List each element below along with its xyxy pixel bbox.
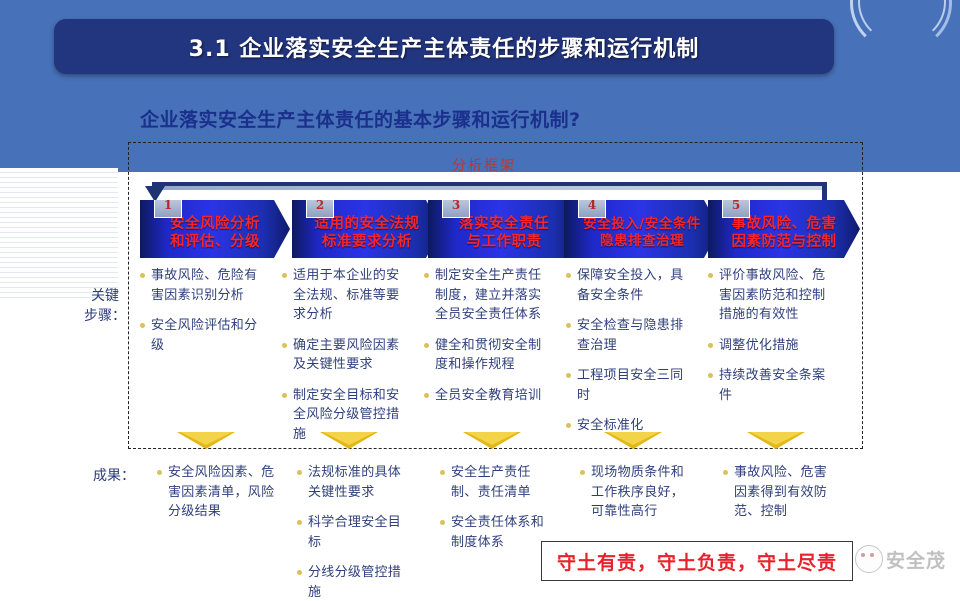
list-item: 评价事故风险、危害因素防范和控制措施的有效性 <box>708 266 836 325</box>
down-arrow-icon-1 <box>177 432 235 449</box>
key-steps-label-line2: 步骤： <box>82 306 128 326</box>
results-label: 成果： <box>93 466 159 486</box>
list-item-label: 持续改善安全条案件 <box>719 366 836 405</box>
list-item: 安全风险评估和分级 <box>140 316 264 355</box>
list-item: 现场物质条件和工作秩序良好，可靠性高行 <box>580 463 692 522</box>
step-box-5[interactable]: 5 事故风险、危害 因素防范与控制 <box>708 200 860 258</box>
bullet-dot-icon <box>297 570 302 575</box>
down-arrow-icon-2 <box>320 432 378 449</box>
list-item: 事故风险、危害因素得到有效防范、控制 <box>723 463 839 522</box>
bullet-dot-icon <box>424 343 429 348</box>
list-item: 适用于本企业的安全法规、标准等要求分析 <box>282 266 408 325</box>
step-box-3[interactable]: 3 落实安全责任 与工作职责 <box>428 200 580 258</box>
bullet-dot-icon <box>157 470 162 475</box>
bullet-dot-icon <box>424 273 429 278</box>
bullet-dot-icon <box>424 393 429 398</box>
background-stripes-overlay <box>0 168 118 300</box>
list-item-label: 健全和贯彻安全制度和操作规程 <box>435 336 550 375</box>
framework-label: 分析框架 <box>452 155 516 175</box>
list-item-label: 事故风险、危险有害因素识别分析 <box>151 266 264 305</box>
bullet-dot-icon <box>566 273 571 278</box>
slide-title-bar: 3.1 企业落实安全生产主体责任的步骤和运行机制 <box>54 19 834 74</box>
step-title-line2: 隐患排查治理 <box>583 233 700 250</box>
key-steps-column-5: 评价事故风险、危害因素防范和控制措施的有效性 调整优化措施 持续改善安全条案件 <box>708 266 836 416</box>
step-title-line2: 和评估、分级 <box>170 233 260 251</box>
step-title: 安全风险分析 和评估、分级 <box>170 207 260 251</box>
list-item-label: 安全责任体系和制度体系 <box>451 513 550 552</box>
down-arrow-icon-3 <box>463 432 521 449</box>
key-steps-column-4: 保障安全投入，具备安全条件 安全检查与隐患排查治理 工程项目安全三同时 安全标准… <box>566 266 688 447</box>
bullet-dot-icon <box>708 343 713 348</box>
list-item: 安全生产责任制、责任清单 <box>440 463 550 502</box>
list-item: 全员安全教育培训 <box>424 386 550 406</box>
list-item: 制定安全生产责任制度，建立并落实全员安全责任体系 <box>424 266 550 325</box>
down-arrow-icon-4 <box>604 432 662 449</box>
key-steps-label-line1: 关键 <box>82 286 128 306</box>
list-item-label: 安全检查与隐患排查治理 <box>577 316 688 355</box>
step-box-2[interactable]: 2 适用的安全法规 标准要求分析 <box>292 200 442 258</box>
list-item-label: 适用于本企业的安全法规、标准等要求分析 <box>293 266 408 325</box>
process-steps-row: 1 安全风险分析 和评估、分级 2 适用的安全法规 标准要求分析 3 落实安全责… <box>140 200 860 258</box>
key-steps-column-2: 适用于本企业的安全法规、标准等要求分析 确定主要风险因素及关键性要求 制定安全目… <box>282 266 408 455</box>
list-item-label: 确定主要风险因素及关键性要求 <box>293 336 408 375</box>
results-column-3: 安全生产责任制、责任清单 安全责任体系和制度体系 <box>440 463 550 563</box>
step-title-line2: 与工作职责 <box>459 233 549 251</box>
bullet-dot-icon <box>297 470 302 475</box>
bullet-dot-icon <box>708 273 713 278</box>
bullet-dot-icon <box>566 323 571 328</box>
step-title: 落实安全责任 与工作职责 <box>459 207 549 251</box>
step-title-line1: 落实安全责任 <box>459 215 549 233</box>
list-item: 健全和贯彻安全制度和操作规程 <box>424 336 550 375</box>
bullet-dot-icon <box>140 273 145 278</box>
list-item-label: 科学合理安全目标 <box>308 513 409 552</box>
bullet-dot-icon <box>723 470 728 475</box>
bullet-dot-icon <box>566 423 571 428</box>
results-column-4: 现场物质条件和工作秩序良好，可靠性高行 <box>580 463 692 533</box>
list-item-label: 全员安全教育培训 <box>435 386 541 406</box>
list-item: 安全风险因素、危害因素清单，风险分级结果 <box>157 463 277 522</box>
list-item-label: 制定安全生产责任制度，建立并落实全员安全责任体系 <box>435 266 550 325</box>
step-box-4[interactable]: 4 安全投入/安全条件 隐患排查治理 <box>564 200 720 258</box>
watermark-logo-icon <box>855 545 883 573</box>
results-column-2: 法规标准的具体关键性要求 科学合理安全目标 分线分级管控措施 <box>297 463 409 601</box>
list-item: 调整优化措施 <box>708 336 836 356</box>
watermark-label: 安全茂 <box>886 546 946 573</box>
step-title-line1: 安全风险分析 <box>170 215 260 233</box>
list-item-label: 分线分级管控措施 <box>308 563 409 601</box>
page-title: 3.1 企业落实安全生产主体责任的步骤和运行机制 <box>189 31 700 63</box>
list-item-label: 安全生产责任制、责任清单 <box>451 463 550 502</box>
list-item: 持续改善安全条案件 <box>708 366 836 405</box>
list-item-label: 安全风险因素、危害因素清单，风险分级结果 <box>168 463 277 522</box>
list-item: 工程项目安全三同时 <box>566 366 688 405</box>
list-item-label: 事故风险、危害因素得到有效防范、控制 <box>734 463 839 522</box>
bullet-dot-icon <box>440 470 445 475</box>
watermark: 安全茂 <box>855 545 946 573</box>
bullet-dot-icon <box>140 323 145 328</box>
step-title-line2: 因素防范与控制 <box>732 233 837 251</box>
list-item-label: 现场物质条件和工作秩序良好，可靠性高行 <box>591 463 692 522</box>
key-steps-column-3: 制定安全生产责任制度，建立并落实全员安全责任体系 健全和贯彻安全制度和操作规程 … <box>424 266 550 416</box>
bullet-dot-icon <box>440 520 445 525</box>
list-item: 事故风险、危险有害因素识别分析 <box>140 266 264 305</box>
slogan-box: 守土有责，守土负责，守土尽责 <box>541 541 853 581</box>
bullet-dot-icon <box>708 373 713 378</box>
list-item: 科学合理安全目标 <box>297 513 409 552</box>
bullet-dot-icon <box>580 470 585 475</box>
list-item-label: 法规标准的具体关键性要求 <box>308 463 409 502</box>
list-item: 安全检查与隐患排查治理 <box>566 316 688 355</box>
bullet-dot-icon <box>282 343 287 348</box>
list-item-label: 评价事故风险、危害因素防范和控制措施的有效性 <box>719 266 836 325</box>
bullet-dot-icon <box>282 273 287 278</box>
key-steps-label: 关键 步骤： <box>82 286 128 327</box>
step-title-line1: 安全投入/安全条件 <box>583 216 700 233</box>
list-item-label: 保障安全投入，具备安全条件 <box>577 266 688 305</box>
list-item-label: 安全风险评估和分级 <box>151 316 264 355</box>
list-item: 分线分级管控措施 <box>297 563 409 601</box>
bullet-dot-icon <box>297 520 302 525</box>
slogan-text: 守土有责，守土负责，守土尽责 <box>557 548 837 575</box>
connector-shadow <box>158 186 822 190</box>
list-item: 确定主要风险因素及关键性要求 <box>282 336 408 375</box>
step-title-line2: 标准要求分析 <box>315 233 420 251</box>
list-item: 保障安全投入，具备安全条件 <box>566 266 688 305</box>
list-item-label: 调整优化措施 <box>719 336 799 356</box>
bullet-dot-icon <box>282 393 287 398</box>
down-arrow-icon-5 <box>747 432 805 449</box>
results-column-1: 安全风险因素、危害因素清单，风险分级结果 <box>157 463 277 533</box>
key-steps-column-1: 事故风险、危险有害因素识别分析 安全风险评估和分级 <box>140 266 264 366</box>
list-item: 法规标准的具体关键性要求 <box>297 463 409 502</box>
list-item-label: 工程项目安全三同时 <box>577 366 688 405</box>
bullet-dot-icon <box>566 373 571 378</box>
list-item: 安全责任体系和制度体系 <box>440 513 550 552</box>
step-box-1[interactable]: 1 安全风险分析 和评估、分级 <box>140 200 290 258</box>
slide-canvas: 3.1 企业落实安全生产主体责任的步骤和运行机制 企业落实安全生产主体责任的基本… <box>0 0 960 601</box>
results-column-5: 事故风险、危害因素得到有效防范、控制 <box>723 463 839 533</box>
slide-subtitle: 企业落实安全生产主体责任的基本步骤和运行机制? <box>140 105 581 132</box>
